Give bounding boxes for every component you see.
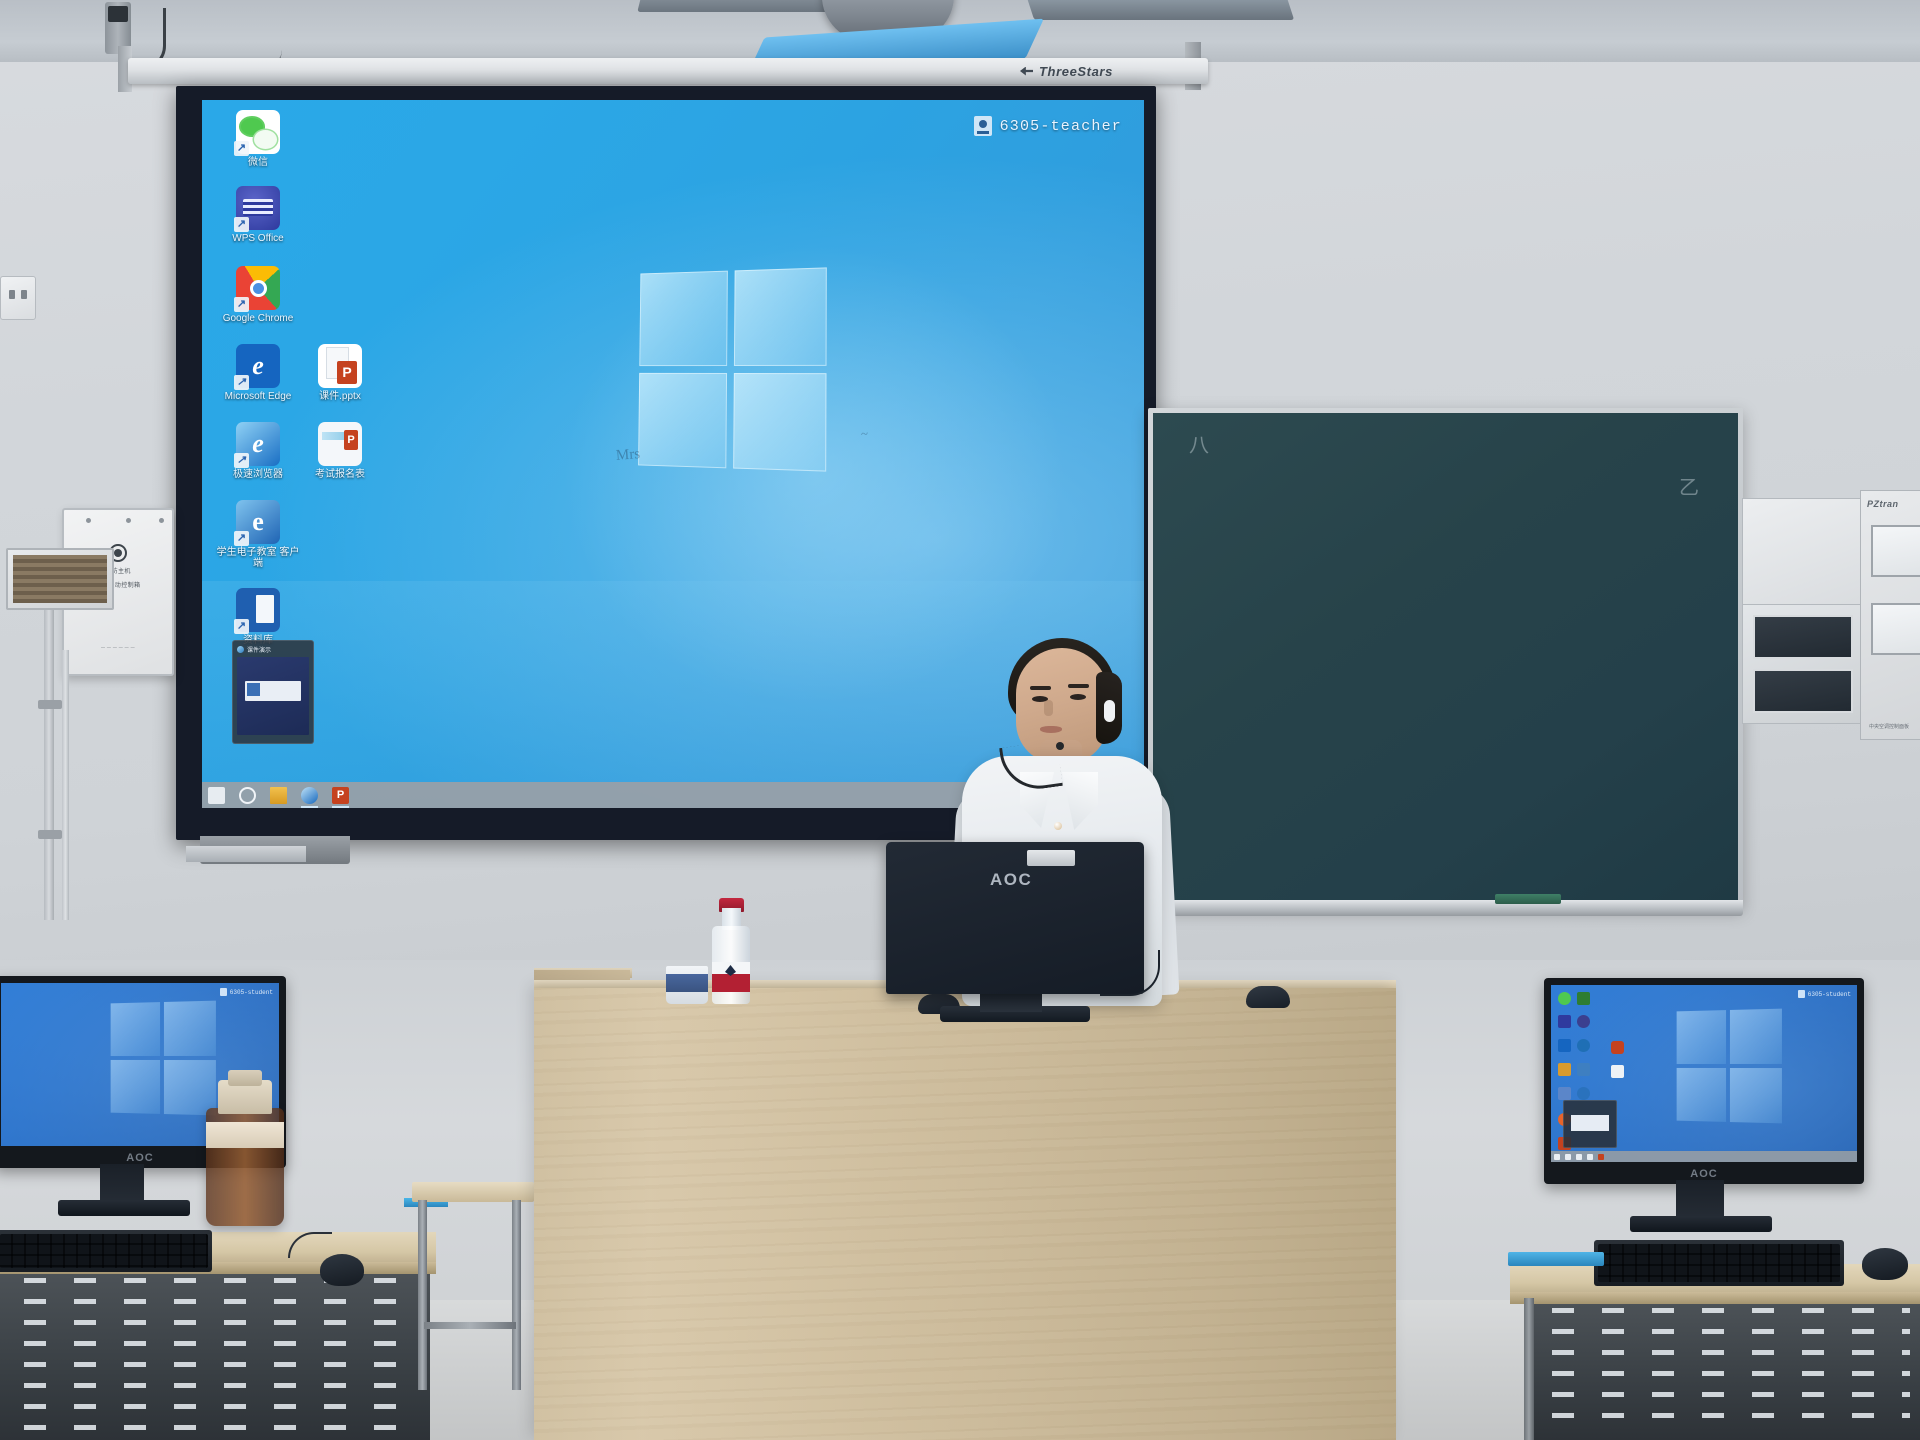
electrical-panel-lower[interactable] xyxy=(1742,604,1864,724)
file-explorer-icon[interactable] xyxy=(1558,1063,1571,1076)
icon-label: 微信 xyxy=(216,157,300,168)
tea-bottle-label xyxy=(206,1122,284,1148)
blackboard: 八 乙 xyxy=(1148,408,1743,908)
keyboard-right[interactable] xyxy=(1594,1240,1844,1286)
icon-label: 学生电子教室 客户端 xyxy=(216,547,300,569)
ceiling-fan-blade xyxy=(637,0,842,12)
wall-vent-box xyxy=(6,548,114,610)
power-outlet[interactable] xyxy=(0,276,36,320)
app-icon xyxy=(237,646,244,653)
lectern xyxy=(534,988,1396,1440)
desktop-icon-classroom-client[interactable]: e↗ 学生电子教室 客户端 xyxy=(216,500,300,569)
icon-label: Microsoft Edge xyxy=(216,391,300,402)
desk-label-strip xyxy=(1508,1252,1604,1266)
preview-window xyxy=(245,681,301,701)
microsoft-edge-icon: e↗ xyxy=(236,344,280,388)
monitor-icon xyxy=(1798,990,1805,998)
file-explorer-icon xyxy=(1576,1154,1582,1160)
microphone-capsule-icon xyxy=(1056,742,1064,750)
chalk-mark: 乙 xyxy=(1679,471,1699,500)
panel-display xyxy=(1871,525,1920,577)
threestars-logo-icon xyxy=(1020,67,1033,76)
desktop-icon-form[interactable]: 考试报名表 xyxy=(298,422,382,480)
documents-folder-icon: ↗ xyxy=(236,588,280,632)
brand-text: ThreeStars xyxy=(1039,64,1113,79)
blackboard-eraser[interactable] xyxy=(1495,894,1561,904)
blackboard-chalk-ledge xyxy=(1148,900,1743,916)
desktop-icon-edge[interactable]: e↗ Microsoft Edge xyxy=(216,344,300,402)
monitor-brand-label: AOC xyxy=(1690,1168,1717,1180)
wps-office-icon[interactable] xyxy=(1558,1015,1571,1028)
browser-icon[interactable] xyxy=(1577,1039,1590,1052)
pipe-clamp xyxy=(38,830,62,839)
hvac-control-panel[interactable]: PZtran 中央空调控制面板 xyxy=(1860,490,1920,740)
stool-stretcher xyxy=(424,1322,516,1329)
blackboard-surface: 八 乙 xyxy=(1153,413,1738,903)
start-button-icon xyxy=(1554,1154,1560,1160)
keyboard-keys xyxy=(1598,1244,1840,1282)
electrical-panel-upper[interactable] xyxy=(1742,498,1864,608)
desktop-icon-chrome[interactable]: ↗ Google Chrome xyxy=(216,266,300,324)
windows-logo-icon xyxy=(1677,1009,1782,1124)
windows-logo-icon xyxy=(638,267,827,471)
search-icon[interactable] xyxy=(239,787,256,804)
internet-explorer-icon: e↗ xyxy=(236,500,280,544)
app-icon[interactable] xyxy=(1577,992,1590,1005)
screen-watermark: 6305-teacher xyxy=(974,116,1122,136)
desk-left-cabinet xyxy=(0,1270,430,1440)
taskbar-thumbnail-preview[interactable] xyxy=(1563,1100,1617,1148)
screen-scuff-mark: Mrs xyxy=(616,446,641,465)
desktop-icon-office[interactable]: ↗ WPS Office xyxy=(216,186,300,244)
teacher-eyebrow xyxy=(1030,686,1051,690)
wall-conduit-pipe xyxy=(44,610,54,920)
browser-icon: e↗ xyxy=(236,422,280,466)
monitor-icon xyxy=(974,116,992,136)
taskbar[interactable] xyxy=(1551,1151,1857,1162)
projector-brand-label: ThreeStars xyxy=(1020,62,1200,80)
browser-taskbar-icon[interactable] xyxy=(301,787,318,804)
panel-window xyxy=(1753,669,1853,713)
stool-leg xyxy=(512,1200,521,1390)
windows-logo-icon xyxy=(111,1001,216,1116)
mouse-left[interactable] xyxy=(320,1254,364,1286)
desktop-icon-ppt[interactable]: 课件.pptx xyxy=(298,344,382,402)
paper-cup-label xyxy=(666,974,708,992)
powerpoint-taskbar-icon[interactable]: P xyxy=(332,787,349,804)
pipe-clamp xyxy=(38,700,62,709)
start-button-icon[interactable] xyxy=(208,787,225,804)
icon-label: 课件.pptx xyxy=(298,391,382,402)
podium-receiver[interactable] xyxy=(1246,986,1290,1008)
icon-label: 考试报名表 xyxy=(298,469,382,480)
cabinet-vent-holes xyxy=(10,1278,420,1432)
wall-conduit-pipe xyxy=(62,650,69,920)
projected-desktop[interactable]: Mrs ~ 6305-teacher ↗ 微信 ↗ WPS Office ↗ G… xyxy=(202,100,1144,808)
monitor-icon xyxy=(220,988,227,996)
teacher-nose xyxy=(1044,700,1053,716)
preview-title: 课件演示 xyxy=(247,645,271,654)
app-icon[interactable] xyxy=(1558,1087,1571,1100)
student-watermark: 6305-student xyxy=(1798,990,1851,998)
preview-title-row: 课件演示 xyxy=(237,645,309,654)
wechat-icon[interactable] xyxy=(1558,992,1571,1005)
screw-icon xyxy=(126,518,131,523)
search-icon xyxy=(1565,1154,1571,1160)
bracket-cap-icon xyxy=(108,6,128,22)
wps-office-icon: ↗ xyxy=(236,186,280,230)
desktop-icon-browser[interactable]: e↗ 极速浏览器 xyxy=(216,422,300,480)
screw-icon xyxy=(86,518,91,523)
watermark-text: 6305-teacher xyxy=(1000,118,1122,135)
stool-leg xyxy=(418,1200,427,1390)
monitor-stand-base-left xyxy=(58,1200,190,1216)
panel-display xyxy=(1871,603,1920,655)
google-chrome-icon: ↗ xyxy=(236,266,280,310)
icon-label: Google Chrome xyxy=(216,313,300,324)
browser-taskbar-icon xyxy=(1587,1154,1593,1160)
necklace-pendant xyxy=(1054,822,1062,830)
cabinet-vent-holes xyxy=(1538,1308,1910,1432)
desktop-icon-docs[interactable]: ↗ 资料库 xyxy=(216,588,300,646)
powerpoint-taskbar-icon xyxy=(1598,1154,1604,1160)
powerpoint-file-icon xyxy=(318,344,362,388)
preview-thumbnail xyxy=(237,657,309,735)
teacher-eyebrow xyxy=(1068,684,1089,688)
projection-screen[interactable]: Mrs ~ 6305-teacher ↗ 微信 ↗ WPS Office ↗ G… xyxy=(176,86,1156,840)
form-file-icon[interactable] xyxy=(1611,1065,1624,1078)
monitor-stand-base-right xyxy=(1630,1216,1772,1232)
app-icon[interactable] xyxy=(1577,1063,1590,1076)
tea-bottle-cap-top xyxy=(228,1070,262,1086)
desk-right-edge xyxy=(1510,1292,1920,1304)
watermark-text: 6305-student xyxy=(230,989,273,996)
monitor-brand-label: AOC xyxy=(990,870,1052,890)
student-watermark: 6305-student xyxy=(220,988,273,996)
mouse-right[interactable] xyxy=(1862,1248,1908,1280)
classroom-scene: ThreeStars Mrs ~ 6305-teacher ↗ 微信 ↗ xyxy=(0,0,1920,1440)
panel-window xyxy=(1753,615,1853,659)
panel-footer-text: 中央空调控制面板 xyxy=(1869,724,1909,731)
student-screen-right[interactable]: 6305-student xyxy=(1551,985,1857,1162)
chalk-mark: 八 xyxy=(1189,429,1209,458)
desktop-icon-wechat[interactable]: ↗ 微信 xyxy=(216,110,300,168)
icon-label: WPS Office xyxy=(216,233,300,244)
screw-icon xyxy=(159,518,164,523)
screen-shelf xyxy=(186,846,306,862)
headset-earpiece xyxy=(1104,700,1115,722)
desk-leg xyxy=(1524,1298,1534,1440)
teacher-eye xyxy=(1070,694,1086,700)
monitor-brand-label: AOC xyxy=(126,1152,153,1164)
icon-label: 极速浏览器 xyxy=(216,469,300,480)
taskbar-thumbnail-preview[interactable]: 课件演示 xyxy=(232,640,314,744)
panel-footnote: — — — — — — xyxy=(64,644,172,649)
app-icon[interactable] xyxy=(1577,1087,1590,1100)
desk-right-cabinet xyxy=(1528,1300,1920,1440)
form-file-icon xyxy=(318,422,362,466)
file-explorer-icon[interactable] xyxy=(270,787,287,804)
watermark-text: 6305-student xyxy=(1808,991,1851,998)
vent-louvers xyxy=(13,555,107,603)
microsoft-edge-icon[interactable] xyxy=(1558,1039,1571,1052)
app-icon[interactable] xyxy=(1577,1015,1590,1028)
wechat-icon: ↗ xyxy=(236,110,280,154)
powerpoint-file-icon[interactable] xyxy=(1611,1041,1624,1054)
student-monitor-right[interactable]: 6305-student AOC xyxy=(1544,978,1864,1184)
ceiling-fan-blade xyxy=(1026,0,1294,20)
water-bottle-label xyxy=(712,962,750,992)
stool-seat[interactable] xyxy=(412,1182,534,1202)
monitor-asset-sticker xyxy=(1027,850,1075,866)
keyboard-left[interactable] xyxy=(0,1230,212,1272)
panel-brand: PZtran xyxy=(1867,499,1899,509)
keyboard-keys xyxy=(0,1234,208,1268)
teacher-mouth xyxy=(1040,726,1062,733)
wood-grain-texture xyxy=(534,988,1396,1440)
